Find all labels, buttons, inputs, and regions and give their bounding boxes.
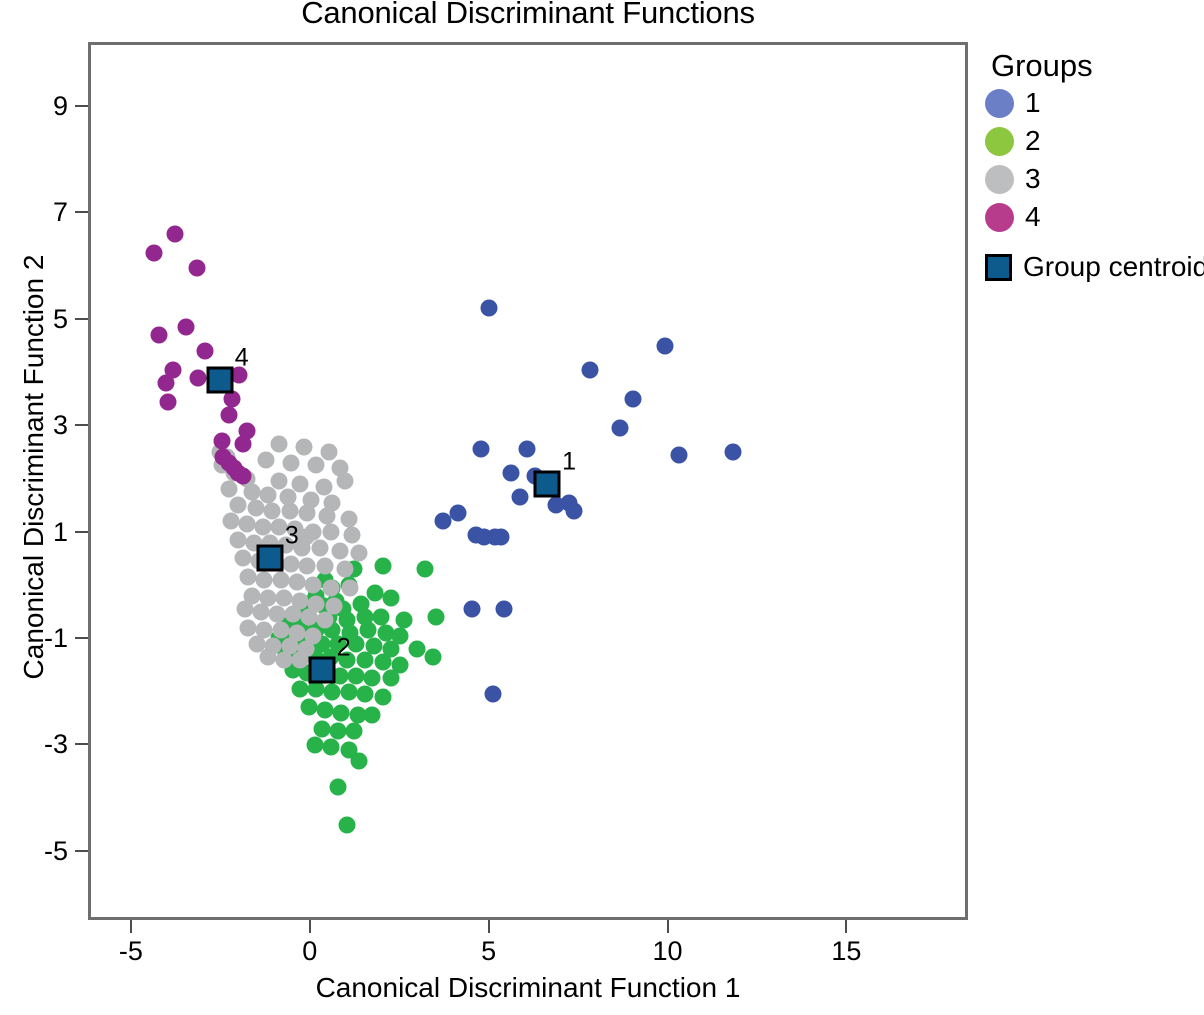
legend-item-label: 2 <box>1025 126 1041 156</box>
scatter-point-group-3 <box>320 444 337 461</box>
scatter-point-group-4 <box>177 319 194 336</box>
scatter-point-group-3 <box>336 473 353 490</box>
scatter-point-group-2 <box>333 704 350 721</box>
scatter-point-group-2 <box>292 680 309 697</box>
scatter-point-group-3 <box>240 569 257 586</box>
x-axis-tick <box>845 920 847 933</box>
scatter-point-group-1 <box>519 441 536 458</box>
scatter-point-group-2 <box>424 648 441 665</box>
scatter-point-group-2 <box>360 622 377 639</box>
legend-item-group-centroid[interactable]: Group centroid <box>985 248 1204 286</box>
scatter-point-group-4 <box>235 468 252 485</box>
scatter-point-group-2 <box>313 720 330 737</box>
y-axis-tick <box>75 105 88 107</box>
legend-item-3[interactable]: 3 <box>985 160 1204 198</box>
legend-item-2[interactable]: 2 <box>985 122 1204 160</box>
x-axis-tick <box>309 920 311 933</box>
x-axis-tick-label: 0 <box>302 936 317 966</box>
scatter-point-group-2 <box>383 670 400 687</box>
scatter-point-group-1 <box>565 502 582 519</box>
scatter-point-group-3 <box>317 558 334 575</box>
y-axis-tick <box>75 211 88 213</box>
scatter-point-group-2 <box>301 699 318 716</box>
scatter-point-group-4 <box>190 369 207 386</box>
scatter-point-group-3 <box>254 518 271 535</box>
scatter-point-group-2 <box>322 739 339 756</box>
chart-root: Canonical Discriminant Functions 1234 -5… <box>0 0 1204 1015</box>
y-axis-tick <box>75 318 88 320</box>
scatter-point-group-2 <box>349 707 366 724</box>
scatter-point-group-3 <box>319 507 336 524</box>
scatter-point-group-3 <box>292 476 309 493</box>
scatter-point-group-2 <box>408 640 425 657</box>
scatter-point-group-3 <box>317 611 334 628</box>
scatter-point-group-3 <box>344 526 361 543</box>
x-axis-label: Canonical Discriminant Function 1 <box>88 972 968 1004</box>
scatter-point-group-2 <box>374 654 391 671</box>
scatter-point-group-3 <box>243 483 260 500</box>
scatter-point-group-3 <box>283 555 300 572</box>
scatter-point-group-2 <box>329 723 346 740</box>
scatter-point-group-2 <box>317 702 334 719</box>
scatter-point-group-2 <box>351 752 368 769</box>
scatter-point-group-1 <box>503 465 520 482</box>
scatter-point-group-2 <box>338 816 355 833</box>
scatter-point-group-3 <box>299 558 316 575</box>
scatter-point-group-4 <box>150 327 167 344</box>
scatter-point-group-4 <box>159 393 176 410</box>
scatter-point-group-3 <box>272 571 289 588</box>
scatter-point-group-3 <box>260 648 277 665</box>
group-centroid-label-4: 4 <box>235 346 249 371</box>
scatter-point-group-3 <box>252 603 269 620</box>
legend: Groups 1234Group centroid <box>985 48 1204 286</box>
scatter-point-group-1 <box>582 361 599 378</box>
legend-item-1[interactable]: 1 <box>985 84 1204 122</box>
scatter-point-group-1 <box>657 337 674 354</box>
x-axis-tick-label: 10 <box>652 936 682 966</box>
legend-item-label: 4 <box>1025 202 1041 232</box>
scatter-point-group-2 <box>417 561 434 578</box>
scatter-point-group-3 <box>235 550 252 567</box>
scatter-point-group-3 <box>322 523 339 540</box>
scatter-point-group-3 <box>263 502 280 519</box>
y-axis-tick-label: -5 <box>0 836 68 866</box>
legend-circle-icon <box>985 89 1014 118</box>
scatter-point-group-2 <box>428 609 445 626</box>
scatter-point-group-3 <box>247 499 264 516</box>
scatter-point-group-2 <box>383 590 400 607</box>
scatter-point-group-3 <box>295 438 312 455</box>
scatter-point-group-4 <box>197 342 214 359</box>
scatter-point-group-1 <box>671 446 688 463</box>
group-centroid-label-1: 1 <box>562 450 576 475</box>
plot-frame: 1234 <box>88 42 968 920</box>
scatter-point-group-3 <box>276 590 293 607</box>
scatter-point-group-1 <box>463 601 480 618</box>
scatter-point-group-3 <box>285 606 302 623</box>
scatter-point-group-3 <box>270 436 287 453</box>
scatter-point-group-3 <box>220 481 237 498</box>
scatter-point-group-2 <box>374 688 391 705</box>
scatter-point-group-3 <box>342 579 359 596</box>
scatter-point-group-4 <box>235 436 252 453</box>
x-axis-tick-label: -5 <box>119 936 143 966</box>
legend-circle-icon <box>985 165 1014 194</box>
scatter-point-group-2 <box>367 585 384 602</box>
scatter-point-group-2 <box>396 611 413 628</box>
scatter-point-group-1 <box>725 444 742 461</box>
group-centroid-3 <box>256 545 283 572</box>
plot-area: 1234 <box>91 45 965 917</box>
scatter-point-group-3 <box>315 478 332 495</box>
x-axis-tick-label: 15 <box>831 936 861 966</box>
scatter-point-group-1 <box>492 529 509 546</box>
scatter-point-group-4 <box>213 433 230 450</box>
scatter-point-group-3 <box>256 571 273 588</box>
group-centroid-1 <box>534 471 561 498</box>
group-centroid-4 <box>206 367 233 394</box>
scatter-point-group-1 <box>435 513 452 530</box>
scatter-point-group-3 <box>283 454 300 471</box>
scatter-point-group-2 <box>374 558 391 575</box>
scatter-point-group-2 <box>324 683 341 700</box>
group-centroid-label-2: 2 <box>337 636 351 661</box>
scatter-point-group-3 <box>331 542 348 559</box>
scatter-point-group-2 <box>356 686 373 703</box>
scatter-point-group-3 <box>297 529 314 546</box>
scatter-point-group-3 <box>222 513 239 530</box>
scatter-point-group-3 <box>340 510 357 527</box>
scatter-point-group-3 <box>304 577 321 594</box>
scatter-point-group-4 <box>220 406 237 423</box>
y-axis-tick <box>75 850 88 852</box>
x-axis-tick-label: 5 <box>481 936 496 966</box>
chart-title: Canonical Discriminant Functions <box>88 0 968 30</box>
legend-title: Groups <box>991 48 1204 84</box>
scatter-point-group-3 <box>288 574 305 591</box>
scatter-point-group-3 <box>260 486 277 503</box>
scatter-point-group-3 <box>311 539 328 556</box>
scatter-point-group-1 <box>496 601 513 618</box>
group-centroid-2 <box>308 657 335 684</box>
scatter-point-group-3 <box>240 619 257 636</box>
scatter-point-group-1 <box>624 390 641 407</box>
y-axis-tick <box>75 531 88 533</box>
legend-item-4[interactable]: 4 <box>985 198 1204 236</box>
scatter-point-group-4 <box>145 244 162 261</box>
legend-square-icon <box>985 254 1012 281</box>
scatter-point-group-3 <box>292 651 309 668</box>
scatter-point-group-3 <box>308 457 325 474</box>
legend-circle-icon <box>985 127 1014 156</box>
y-axis-tick <box>75 637 88 639</box>
scatter-point-group-4 <box>167 225 184 242</box>
legend-items: 1234Group centroid <box>985 84 1204 286</box>
y-axis-label: Canonical Discriminant Function 2 <box>19 97 49 837</box>
scatter-point-group-2 <box>356 651 373 668</box>
scatter-point-group-3 <box>269 606 286 623</box>
scatter-point-group-3 <box>229 497 246 514</box>
legend-circle-icon <box>985 203 1014 232</box>
x-axis-tick <box>130 920 132 933</box>
scatter-point-group-2 <box>306 736 323 753</box>
scatter-point-group-3 <box>258 452 275 469</box>
scatter-point-group-3 <box>238 515 255 532</box>
scatter-point-group-2 <box>340 683 357 700</box>
scatter-point-group-3 <box>301 609 318 626</box>
scatter-point-group-3 <box>236 601 253 618</box>
legend-item-label: Group centroid <box>1023 252 1204 282</box>
y-axis-tick <box>75 743 88 745</box>
scatter-point-group-1 <box>548 497 565 514</box>
scatter-point-group-2 <box>347 667 364 684</box>
scatter-point-group-1 <box>512 489 529 506</box>
legend-item-label: 3 <box>1025 164 1041 194</box>
scatter-point-group-2 <box>363 670 380 687</box>
scatter-point-group-3 <box>281 502 298 519</box>
scatter-point-group-1 <box>485 686 502 703</box>
scatter-point-group-3 <box>299 505 316 522</box>
scatter-point-group-3 <box>351 545 368 562</box>
y-axis-tick <box>75 424 88 426</box>
scatter-point-group-3 <box>276 651 293 668</box>
scatter-point-group-1 <box>481 300 498 317</box>
scatter-point-group-1 <box>472 441 489 458</box>
scatter-point-group-2 <box>329 779 346 796</box>
scatter-point-group-2 <box>372 609 389 626</box>
x-axis-tick <box>488 920 490 933</box>
scatter-point-group-2 <box>345 723 362 740</box>
scatter-point-group-1 <box>612 420 629 437</box>
scatter-point-group-4 <box>158 374 175 391</box>
scatter-point-group-3 <box>229 531 246 548</box>
scatter-point-group-3 <box>322 579 339 596</box>
scatter-point-group-3 <box>272 622 289 639</box>
group-centroid-label-3: 3 <box>285 524 299 549</box>
x-axis-tick <box>667 920 669 933</box>
scatter-point-group-4 <box>188 260 205 277</box>
scatter-point-group-3 <box>336 561 353 578</box>
legend-item-label: 1 <box>1025 88 1041 118</box>
